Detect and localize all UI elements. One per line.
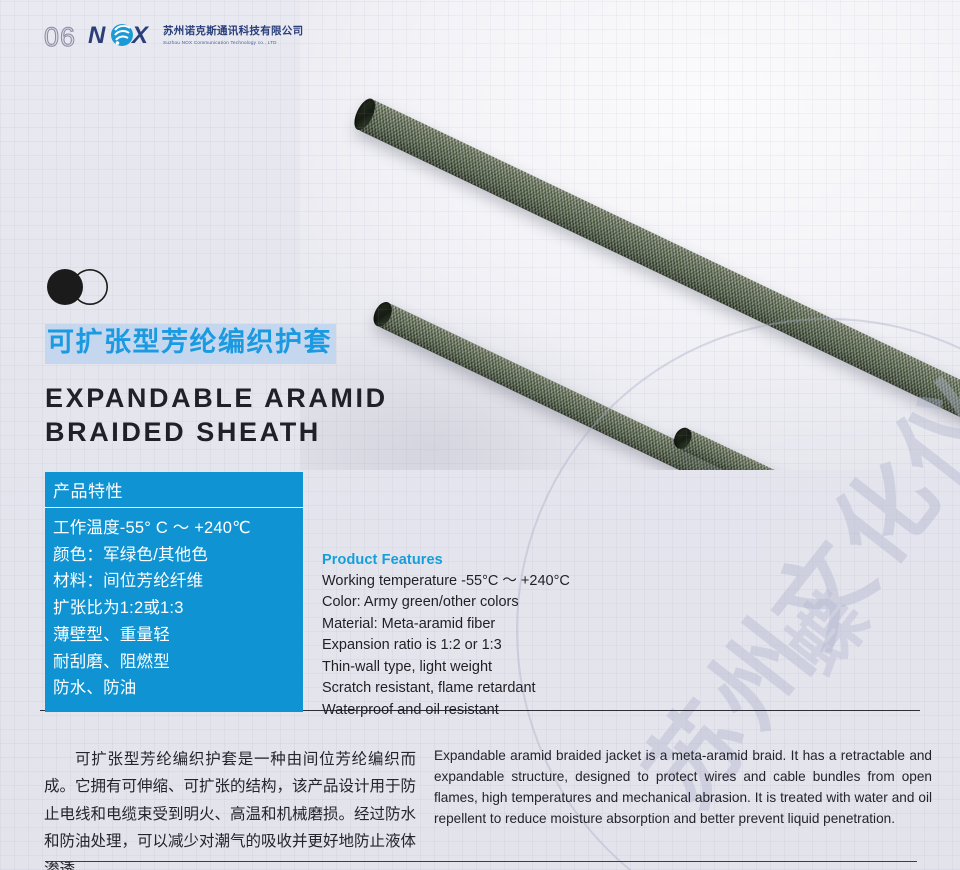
product-features-box-chinese: 产品特性 工作温度-55° C ～ +240℃ 颜色：军绿色/其他色 材料：间位… xyxy=(45,472,303,712)
feature-item: 耐刮磨、阻燃型 xyxy=(53,649,303,676)
nox-logo-icon: N X xyxy=(88,22,154,48)
feature-item: 薄壁型、重量轻 xyxy=(53,622,303,649)
feature-item: Waterproof and oil resistant xyxy=(322,700,652,721)
feature-item: Working temperature -55°C ～ +240°C xyxy=(322,571,652,592)
feature-item: Color: Army green/other colors xyxy=(322,592,652,613)
page-title-english-line1: EXPANDABLE ARAMID xyxy=(45,382,445,416)
feature-item: Expansion ratio is 1:2 or 1:3 xyxy=(322,635,652,656)
product-features-heading-english: Product Features xyxy=(322,552,652,568)
description-chinese: 可扩张型芳纶编织护套是一种由间位芳纶编织而成。它拥有可伸缩、可扩张的结构，该产品… xyxy=(44,746,416,870)
page-title-chinese: 可扩张型芳纶编织护套 xyxy=(45,324,336,364)
feature-item: Material: Meta-aramid fiber xyxy=(322,614,652,635)
page-header: 06 N X 苏州诺克斯通讯科技有限公司 Suzhou NOX Communic… xyxy=(0,0,960,72)
brochure-page: 苏州文化仪 蝶 06 N X 苏州诺克斯通讯科技有限公司 Suzhou NOX … xyxy=(0,0,960,870)
feature-item: 颜色：军绿色/其他色 xyxy=(53,542,303,569)
feature-item: 材料：间位芳纶纤维 xyxy=(53,568,303,595)
feature-item: 扩张比为1:2或1:3 xyxy=(53,595,303,622)
product-features-block-english: Product Features Working temperature -55… xyxy=(322,552,652,721)
title-block: 可扩张型芳纶编织护套 EXPANDABLE ARAMID BRAIDED SHE… xyxy=(45,268,445,449)
feature-item: 防水、防油 xyxy=(53,675,303,702)
page-title-english: EXPANDABLE ARAMID BRAIDED SHEATH xyxy=(45,382,445,450)
feature-item: 工作温度-55° C ～ +240℃ xyxy=(53,515,303,542)
feature-item: Thin-wall type, light weight xyxy=(322,657,652,678)
watermark-text-secondary: 蝶 xyxy=(758,560,894,692)
page-title-english-line2: BRAIDED SHEATH xyxy=(45,416,445,450)
two-circles-decoration-icon xyxy=(45,268,115,306)
feature-item: Scratch resistant, flame retardant xyxy=(322,678,652,699)
product-features-list-chinese: 工作温度-55° C ～ +240℃ 颜色：军绿色/其他色 材料：间位芳纶纤维 … xyxy=(45,508,303,712)
brand-name-english: Suzhou NOX Communication Technology co.,… xyxy=(163,40,303,45)
page-number: 06 xyxy=(44,22,76,53)
brand-name-chinese: 苏州诺克斯通讯科技有限公司 xyxy=(163,26,303,38)
description-english: Expandable aramid braided jacket is a me… xyxy=(434,745,932,830)
product-features-list-english: Working temperature -55°C ～ +240°C Color… xyxy=(322,571,652,721)
brand-names: 苏州诺克斯通讯科技有限公司 Suzhou NOX Communication T… xyxy=(163,25,303,45)
brand-logo: N X 苏州诺克斯通讯科技有限公司 Suzhou NOX Communicati… xyxy=(88,22,303,48)
product-features-heading-chinese: 产品特性 xyxy=(45,472,303,508)
svg-text:N: N xyxy=(88,22,106,48)
